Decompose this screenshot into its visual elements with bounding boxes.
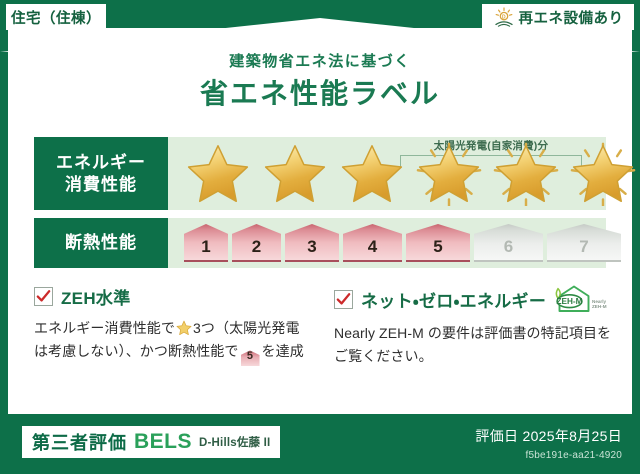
insulation-grade-badge: 6 bbox=[474, 224, 543, 262]
zeh-m-logo-icon: ZEH-M Nearly ZEH-M bbox=[554, 284, 616, 314]
zeh-description: エネルギー消費性能で3つ（太陽光発電は考慮しない）、かつ断熱性能で5を達成 bbox=[34, 317, 312, 366]
building-name: D-Hills佐藤 II bbox=[199, 434, 270, 451]
sun-renewable-icon: D bbox=[493, 7, 515, 27]
insulation-grade-badge: 4 bbox=[343, 224, 402, 262]
insulation-grade-badge: 7 bbox=[547, 224, 621, 262]
zehm-checkbox bbox=[334, 290, 353, 309]
zehm-description: Nearly ZEH-M の要件は評価書の特記項目をご覧ください。 bbox=[334, 322, 614, 367]
zeh-text-c: を達成 bbox=[262, 343, 304, 359]
insulation-rating-area: 1234567 bbox=[168, 218, 606, 268]
insulation-grade-badge: 5 bbox=[406, 224, 470, 262]
energy-rating-area: 太陽光発電(自家消費)分 bbox=[168, 137, 606, 210]
svg-text:ZEH-M: ZEH-M bbox=[557, 297, 583, 306]
insulation-grade-badge: 2 bbox=[232, 224, 281, 262]
energy-label-line2: 消費性能 bbox=[65, 174, 137, 196]
renewable-equipment-label: 再エネ設備あり bbox=[519, 7, 624, 28]
star-solar bbox=[490, 142, 562, 206]
check-icon bbox=[36, 289, 51, 304]
housing-type-tag: 住宅（住棟） bbox=[6, 4, 106, 30]
label-body-panel: 建築物省エネ法に基づく 省エネ性能ラベル エネルギー 消費性能 太陽光発電(自家… bbox=[8, 28, 632, 414]
check-icon bbox=[336, 292, 351, 307]
zehm-title: ネット・ゼロ・エネルギー bbox=[361, 287, 546, 312]
svg-text:ZEH-M: ZEH-M bbox=[592, 304, 607, 309]
svg-text:D: D bbox=[501, 14, 505, 20]
criteria-zeh: ZEH水準 エネルギー消費性能で3つ（太陽光発電は考慮しない）、かつ断熱性能で5… bbox=[8, 284, 320, 367]
star-filled bbox=[259, 142, 331, 206]
title-subtitle: 建築物省エネ法に基づく bbox=[8, 54, 632, 69]
criteria-zehm-header: ネット・ゼロ・エネルギー ZEH-M Nearly ZEH-M bbox=[334, 284, 614, 314]
bels-jp-label: 第三者評価 bbox=[32, 429, 127, 455]
evaluation-info: 評価日 2025年8月25日 f5be191e-aa21-4920 bbox=[475, 426, 622, 461]
zeh-checkbox bbox=[34, 287, 53, 306]
star-filled bbox=[182, 142, 254, 206]
evaluation-id: f5be191e-aa21-4920 bbox=[475, 450, 622, 461]
criteria-zehm: ネット・ゼロ・エネルギー ZEH-M Nearly ZEH-M Nearly Z… bbox=[320, 284, 632, 367]
zeh-text-a: エネルギー消費性能で bbox=[34, 320, 175, 336]
footer-band: 第三者評価 BELS D-Hills佐藤 II 評価日 2025年8月25日 f… bbox=[0, 414, 640, 474]
bels-certification-chip: 第三者評価 BELS D-Hills佐藤 II bbox=[22, 426, 280, 458]
star-solar bbox=[567, 142, 639, 206]
renewable-equipment-tag: D 再エネ設備あり bbox=[482, 4, 634, 30]
housing-type-label: 住宅（住棟） bbox=[11, 7, 101, 28]
zeh-inline-grade-badge: 5 bbox=[241, 350, 260, 366]
evaluation-date: 評価日 2025年8月25日 bbox=[475, 426, 622, 446]
insulation-label: 断熱性能 bbox=[65, 232, 137, 254]
insulation-performance-row: 断熱性能 1234567 bbox=[34, 218, 606, 268]
star-filled bbox=[336, 142, 408, 206]
inline-star-icon bbox=[176, 320, 192, 336]
criteria-section: ZEH水準 エネルギー消費性能で3つ（太陽光発電は考慮しない）、かつ断熱性能で5… bbox=[8, 284, 632, 367]
title-block: 建築物省エネ法に基づく 省エネ性能ラベル bbox=[8, 54, 632, 108]
energy-performance-label: 住宅（住棟） D 再エネ設備あり 建築物省エネ法に基づく 省エネ性能ラベル bbox=[0, 0, 640, 474]
title-main: 省エネ性能ラベル bbox=[8, 80, 632, 108]
insulation-performance-label-box: 断熱性能 bbox=[34, 218, 168, 268]
insulation-badge-strip: 1234567 bbox=[168, 218, 606, 268]
energy-performance-row: エネルギー 消費性能 太陽光発電(自家消費)分 bbox=[34, 137, 606, 210]
energy-label-line1: エネルギー bbox=[56, 152, 146, 174]
zeh-title: ZEH水準 bbox=[61, 284, 131, 309]
star-solar bbox=[413, 142, 485, 206]
star-rating-strip bbox=[168, 137, 606, 210]
insulation-grade-badge: 1 bbox=[184, 224, 228, 262]
bels-en-label: BELS bbox=[134, 430, 192, 454]
energy-performance-label-box: エネルギー 消費性能 bbox=[34, 137, 168, 210]
insulation-grade-badge: 3 bbox=[285, 224, 339, 262]
criteria-zeh-header: ZEH水準 bbox=[34, 284, 312, 309]
